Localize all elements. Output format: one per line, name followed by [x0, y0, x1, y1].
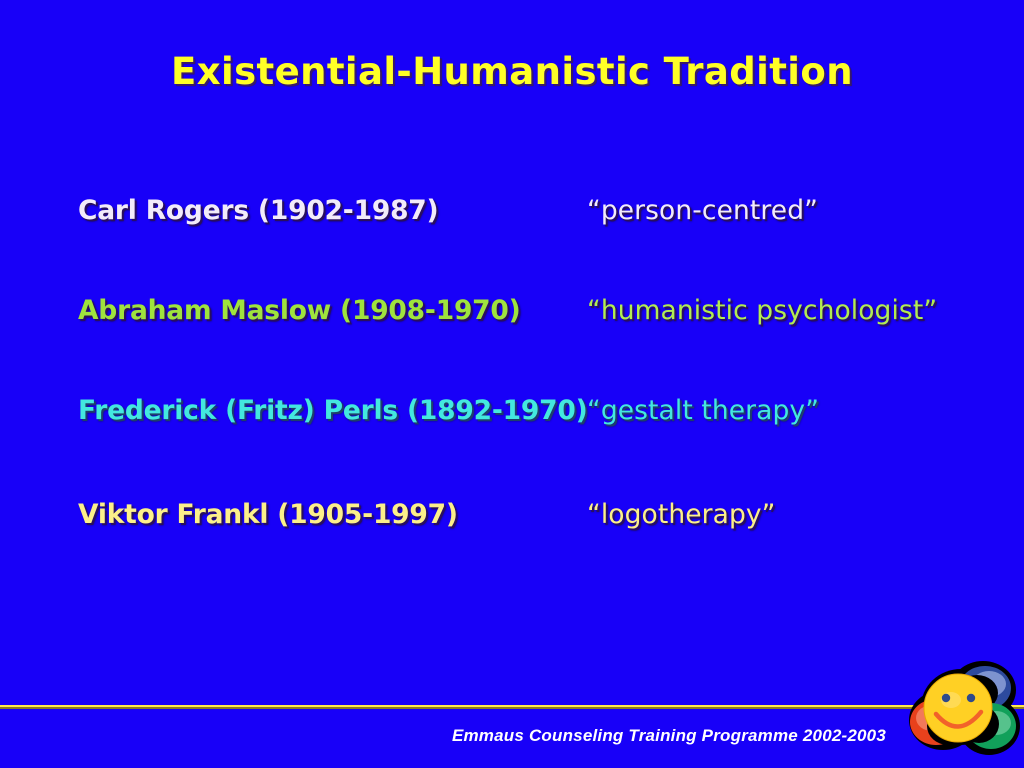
- footer-caption: Emmaus Counseling Training Programme 200…: [0, 726, 886, 746]
- list-item: Abraham Maslow (1908-1970) “humanistic p…: [0, 291, 1024, 331]
- page-title: Existential-Humanistic Tradition: [0, 50, 1024, 93]
- content-list: Carl Rogers (1902-1987) “person-centred”…: [0, 183, 1024, 583]
- list-item: Frederick (Fritz) Perls (1892-1970) “ges…: [0, 391, 1024, 431]
- logo-smiley-face: [924, 674, 992, 742]
- footer-divider-shadow: [0, 707, 1024, 709]
- theorist-name: Viktor Frankl (1905-1997): [78, 495, 458, 535]
- slide-canvas: Existential-Humanistic Tradition Carl Ro…: [0, 0, 1024, 768]
- theorist-term: “logotherapy”: [587, 495, 776, 535]
- theorist-term: “gestalt therapy”: [587, 391, 819, 431]
- theorist-name: Carl Rogers (1902-1987): [78, 191, 438, 231]
- smiley-face-logo-icon: [903, 652, 1021, 764]
- list-item: Carl Rogers (1902-1987) “person-centred”: [0, 191, 1024, 231]
- theorist-term: “humanistic psychologist”: [587, 291, 937, 331]
- list-item: Viktor Frankl (1905-1997) “logotherapy”: [0, 495, 1024, 535]
- theorist-term: “person-centred”: [587, 191, 818, 231]
- theorist-name: Frederick (Fritz) Perls (1892-1970): [78, 391, 587, 431]
- theorist-name: Abraham Maslow (1908-1970): [78, 291, 521, 331]
